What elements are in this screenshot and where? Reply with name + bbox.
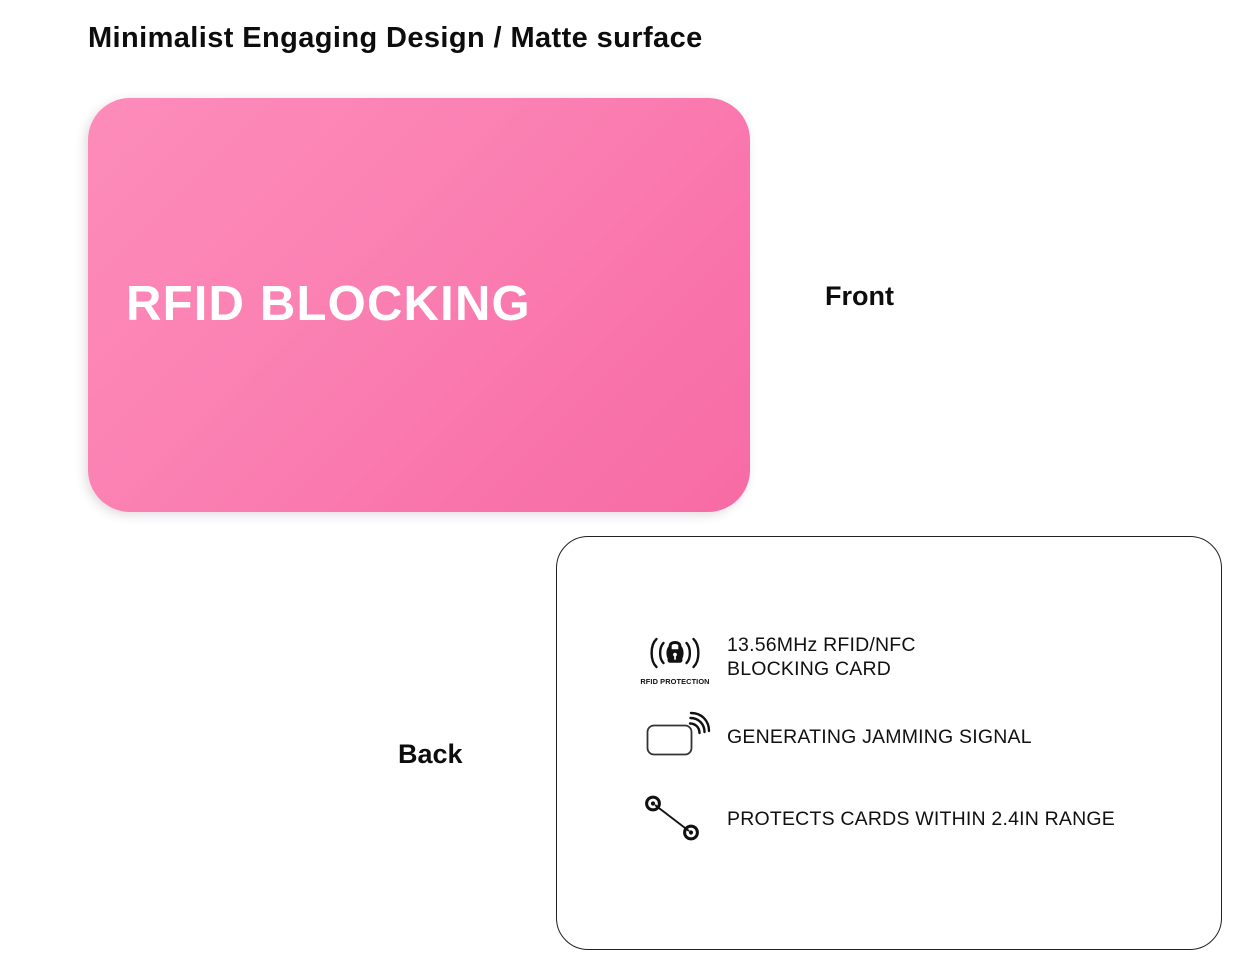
page-title: Minimalist Engaging Design / Matte surfa… bbox=[88, 22, 703, 55]
front-card-label: RFID BLOCKING bbox=[126, 276, 531, 332]
feature-text: PROTECTS CARDS WITHIN 2.4IN RANGE bbox=[723, 807, 1115, 831]
feature-text: 13.56MHz RFID/NFC BLOCKING CARD bbox=[723, 633, 916, 681]
feature-row: GENERATING JAMMING SIGNAL bbox=[627, 709, 1187, 781]
back-side-label: Back bbox=[398, 739, 463, 770]
feature-row: PROTECTS CARDS WITHIN 2.4IN RANGE bbox=[627, 789, 1187, 861]
feature-list: RFID PROTECTION 13.56MHz RFID/NFC BLOCKI… bbox=[627, 629, 1187, 861]
card-jamming-signal-icon bbox=[627, 711, 723, 759]
feature-text: GENERATING JAMMING SIGNAL bbox=[723, 725, 1032, 749]
range-distance-icon bbox=[627, 793, 723, 845]
front-side-label: Front bbox=[825, 281, 894, 312]
back-card: RFID PROTECTION 13.56MHz RFID/NFC BLOCKI… bbox=[556, 536, 1222, 950]
rfid-lock-signal-icon: RFID PROTECTION bbox=[627, 631, 723, 686]
rfid-protection-caption: RFID PROTECTION bbox=[640, 677, 709, 686]
feature-row: RFID PROTECTION 13.56MHz RFID/NFC BLOCKI… bbox=[627, 629, 1187, 701]
front-card: RFID BLOCKING bbox=[88, 98, 750, 512]
